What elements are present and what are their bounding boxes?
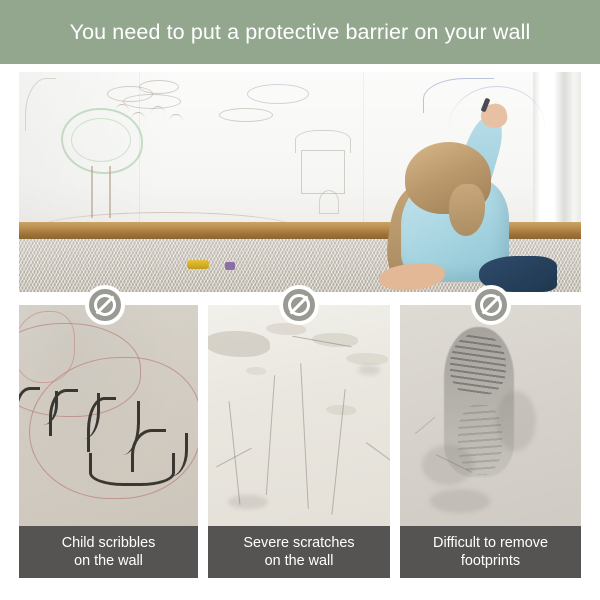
hero-photo — [19, 72, 581, 292]
crayon-bird — [131, 112, 145, 120]
wall-smudge — [496, 391, 536, 451]
wall-smudge — [228, 495, 268, 509]
crayon-tree-crown-inner — [71, 118, 131, 162]
scratch-line — [266, 375, 275, 495]
card-caption-2: Severe scratches on the wall — [208, 526, 390, 578]
crayon-bird — [169, 114, 183, 122]
paint-chip — [346, 353, 388, 365]
scratched-wall-image — [208, 305, 390, 526]
crayon-cloud — [247, 84, 309, 104]
card-footprints: Difficult to remove footprints — [400, 305, 581, 578]
card-caption-text: Severe scratches on the wall — [243, 534, 354, 570]
footprint-wall-image — [400, 305, 581, 526]
dark-crayon-loop — [89, 453, 175, 486]
card-caption-1: Child scribbles on the wall — [19, 526, 198, 578]
crayon-cloud — [219, 108, 273, 122]
crayon-house-body — [301, 150, 345, 194]
prohibited-badge-1 — [85, 285, 125, 325]
wall-seam — [363, 72, 364, 227]
card-photo-footprint — [400, 305, 581, 526]
crayon-grass — [25, 78, 56, 131]
scribbled-wall-image — [19, 305, 198, 526]
page-title: You need to put a protective barrier on … — [70, 20, 531, 45]
wall-smudge — [422, 445, 474, 485]
shoe-tread-pattern — [450, 333, 506, 395]
paint-chip — [208, 331, 270, 357]
card-child-scribbles: Child scribbles on the wall — [19, 305, 198, 578]
card-caption-3: Difficult to remove footprints — [400, 526, 581, 578]
card-severe-scratches: Severe scratches on the wall — [208, 305, 390, 578]
header-banner: You need to put a protective barrier on … — [0, 0, 600, 64]
toy-car — [187, 260, 209, 269]
crayon-flower — [319, 190, 339, 214]
promo-graphic: You need to put a protective barrier on … — [0, 0, 600, 600]
card-photo-scribbles — [19, 305, 198, 526]
red-crayon-mark — [19, 311, 75, 383]
child-figure — [371, 108, 557, 292]
prohibited-badge-2 — [279, 285, 319, 325]
card-caption-text: Child scribbles on the wall — [62, 534, 156, 570]
prohibited-badge-3 — [471, 285, 511, 325]
crayon-tree-trunk — [91, 166, 111, 218]
scuff-line — [415, 417, 436, 434]
paint-chip — [246, 367, 266, 375]
crayon-cloud — [123, 94, 181, 109]
wall-smudge — [430, 489, 490, 513]
scratch-line — [300, 363, 309, 509]
scratch-line — [366, 442, 390, 469]
toy-block — [225, 262, 235, 270]
card-caption-text: Difficult to remove footprints — [433, 534, 548, 570]
crayon-cloud — [139, 80, 179, 94]
wall-smudge — [358, 365, 380, 375]
card-photo-scratches — [208, 305, 390, 526]
